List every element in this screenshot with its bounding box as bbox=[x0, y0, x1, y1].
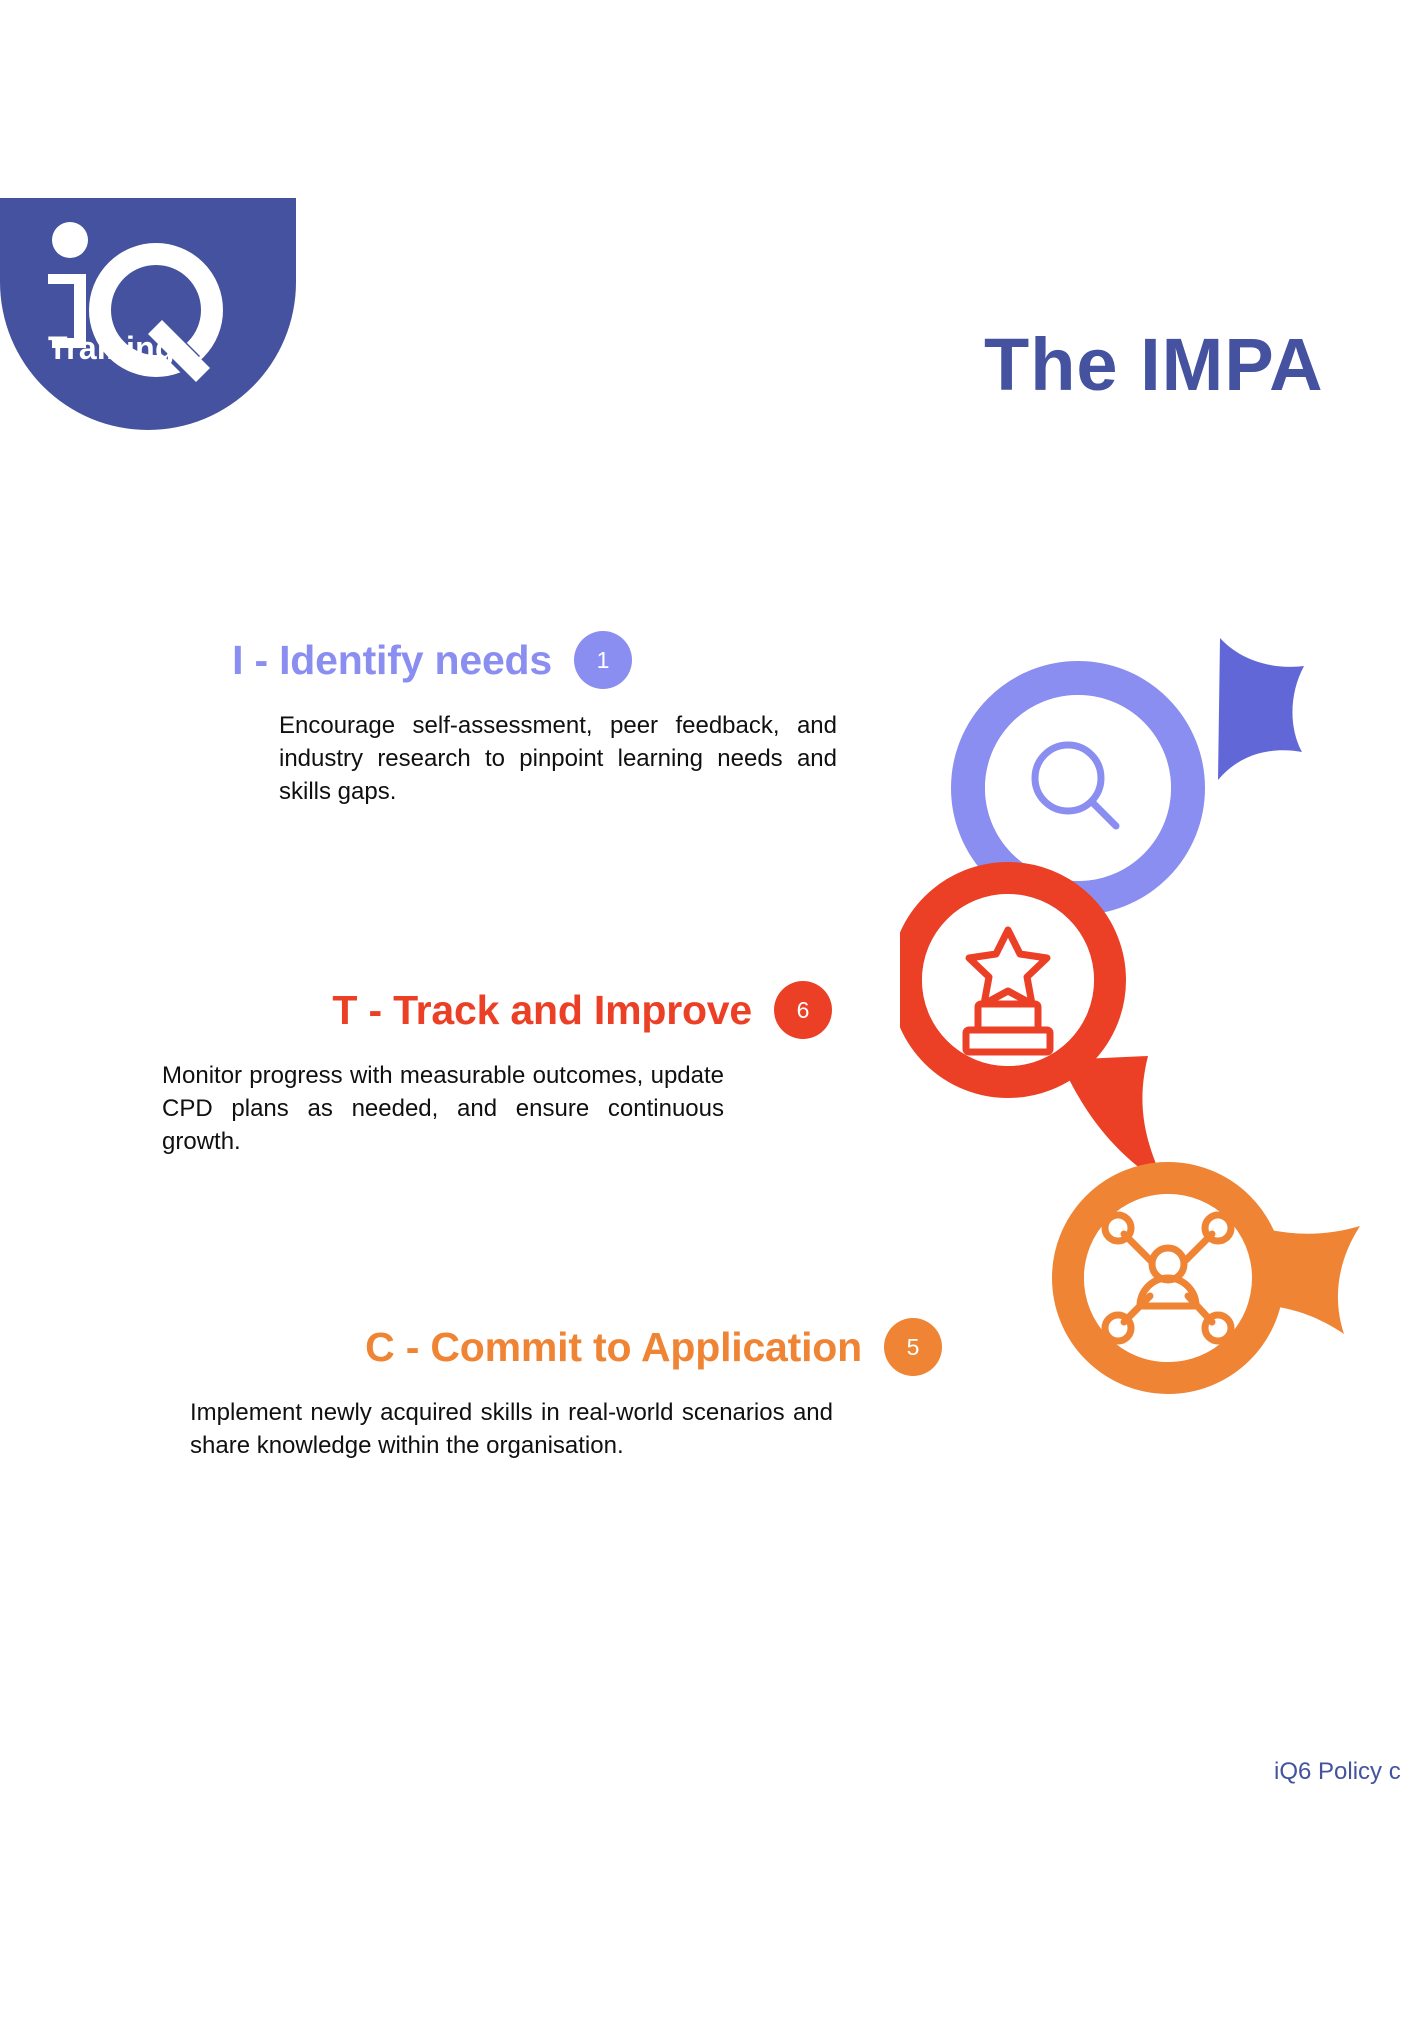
step-title: C - Commit to Application bbox=[365, 1324, 862, 1371]
logo-iq-mark bbox=[40, 216, 240, 406]
step-description: Encourage self-assessment, peer feedback… bbox=[279, 709, 837, 808]
pin-track bbox=[906, 878, 1166, 1186]
step-title: T - Track and Improve bbox=[332, 987, 752, 1034]
step-header: I - Identify needs 1 bbox=[0, 623, 700, 697]
step-header: T - Track and Improve 6 bbox=[0, 973, 832, 1047]
step-description: Implement newly acquired skills in real-… bbox=[190, 1396, 833, 1462]
brand-logo: Training bbox=[0, 198, 296, 430]
step-number-badge: 6 bbox=[774, 981, 832, 1039]
step-title: I - Identify needs bbox=[232, 637, 552, 684]
step-block-commit: C - Commit to Application 5 Implement ne… bbox=[0, 1310, 700, 1462]
pin-commit bbox=[1068, 1178, 1360, 1378]
impact-diagram bbox=[900, 600, 1428, 1480]
page-title: The IMPA bbox=[984, 322, 1324, 407]
step-header: C - Commit to Application 5 bbox=[0, 1310, 942, 1384]
logo-training-text: Training bbox=[48, 332, 175, 364]
step-block-identify: I - Identify needs 1 Encourage self-asse… bbox=[0, 623, 700, 808]
step-block-track: T - Track and Improve 6 Monitor progress… bbox=[0, 973, 700, 1158]
step-number-badge: 1 bbox=[574, 631, 632, 689]
footer-note: iQ6 Policy c bbox=[1274, 1758, 1401, 1786]
step-description: Monitor progress with measurable outcome… bbox=[162, 1059, 724, 1158]
